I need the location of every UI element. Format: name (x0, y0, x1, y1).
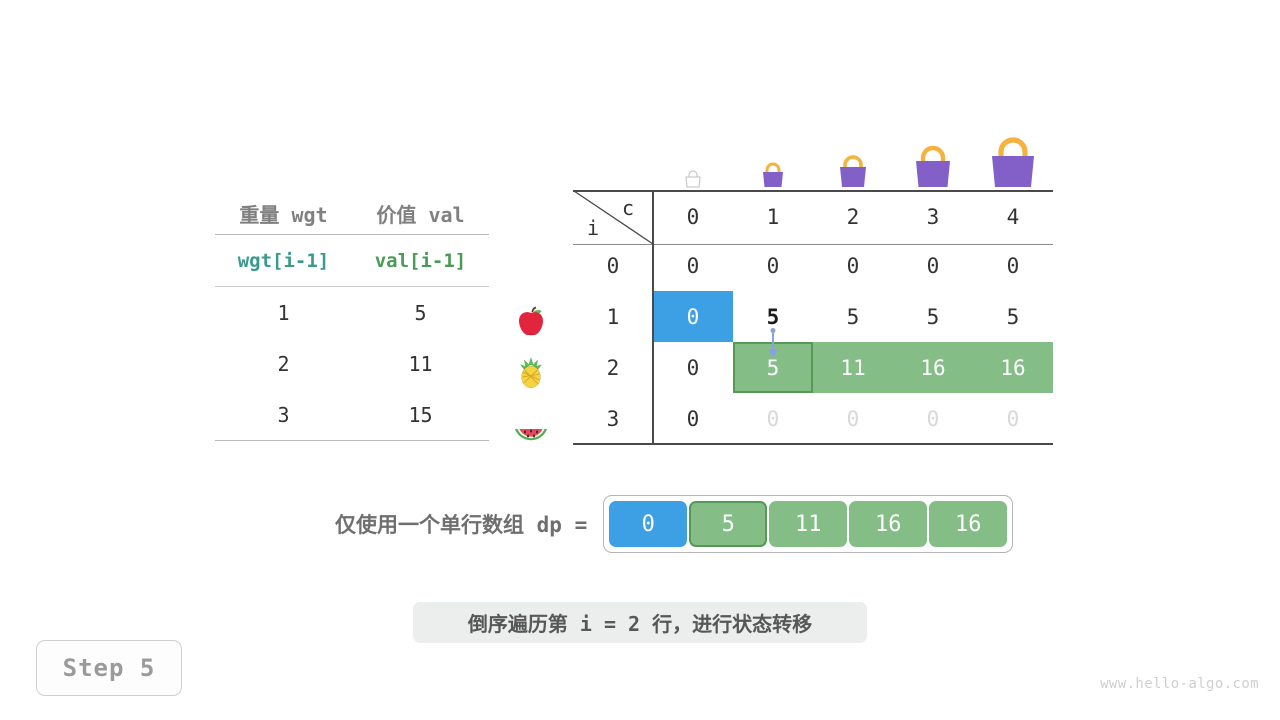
dp-array-cell-4[interactable]: 16 (929, 501, 1007, 547)
wv-divider-bottom (215, 440, 489, 441)
handbag-icon (813, 118, 893, 188)
table-row: 3 15 (215, 389, 489, 440)
dp-cell-1-0: 0 (653, 291, 733, 342)
bag-capacity-icons (653, 118, 1053, 188)
dp-cell-3-1: 0 (733, 393, 813, 444)
dp-array-box: 0 5 11 16 16 (603, 495, 1013, 553)
watermark: www.hello-algo.com (1100, 676, 1259, 692)
wv-subheader-value: val[i-1] (352, 250, 489, 272)
caption-text: 倒序遍历第 i = 2 行，进行状态转移 (413, 602, 867, 643)
wv-weight-3: 3 (215, 403, 352, 427)
handbag-icon (893, 118, 973, 188)
dp-col-header-2: 2 (813, 190, 893, 244)
wv-weight-2: 2 (215, 352, 352, 376)
dp-row-header-1: 1 (573, 291, 653, 342)
dp-cell-0-0: 0 (653, 240, 733, 291)
table-row: 1 5 (215, 287, 489, 338)
dp-cell-3-4: 0 (973, 393, 1053, 444)
dp-cell-0-3: 0 (893, 240, 973, 291)
dp-cell-2-2: 11 (813, 342, 893, 393)
dp-cell-0-1: 0 (733, 240, 813, 291)
dp-cell-3-2: 0 (813, 393, 893, 444)
wv-subheader-weight: wgt[i-1] (215, 250, 352, 272)
dp-array-cell-0[interactable]: 0 (609, 501, 687, 547)
wv-subheader-row: wgt[i-1] val[i-1] (215, 235, 489, 286)
dp-cell-2-4: 16 (973, 342, 1053, 393)
wv-header-weight: 重量 wgt (215, 199, 352, 228)
dp-array-cell-3[interactable]: 16 (849, 501, 927, 547)
wv-value-1: 5 (352, 301, 489, 325)
dp-cell-3-3: 0 (893, 393, 973, 444)
dp-row-header-3: 3 (573, 393, 653, 444)
down-arrow-icon (765, 328, 781, 360)
dp-array-cell-1[interactable]: 5 (689, 501, 767, 547)
dp-col-header-1: 1 (733, 190, 813, 244)
dp-col-header-3: 3 (893, 190, 973, 244)
weight-value-table: 重量 wgt 价值 val wgt[i-1] val[i-1] 1 5 2 11… (215, 192, 489, 441)
dp-array-section: 仅使用一个单行数组 dp = 0 5 11 16 16 (335, 495, 1013, 553)
dp-corner-diagonal (573, 190, 654, 245)
dp-cell-2-3: 16 (893, 342, 973, 393)
apple-icon (508, 295, 554, 346)
handbag-icon (733, 118, 813, 188)
dp-row-header-2: 2 (573, 342, 653, 393)
wv-header-value: 价值 val (352, 199, 489, 228)
handbag-icon (653, 118, 733, 188)
watermelon-icon (508, 397, 554, 448)
dp-cell-1-3: 5 (893, 291, 973, 342)
wv-value-3: 15 (352, 403, 489, 427)
dp-col-header-0: 0 (653, 190, 733, 244)
table-row: 2 11 (215, 338, 489, 389)
wv-weight-1: 1 (215, 301, 352, 325)
step-badge: Step 5 (36, 640, 182, 696)
dp-array-cell-2[interactable]: 11 (769, 501, 847, 547)
dp-row-header-0: 0 (573, 240, 653, 291)
wv-header-row: 重量 wgt 价值 val (215, 192, 489, 234)
dp-cell-2-0: 0 (653, 342, 733, 393)
dp-axis-label-c: c (622, 196, 634, 220)
wv-value-2: 11 (352, 352, 489, 376)
dp-axis-label-i: i (587, 216, 599, 240)
dp-col-header-4: 4 (973, 190, 1053, 244)
dp-cell-1-4: 5 (973, 291, 1053, 342)
dp-table: i c 0 1 2 3 4 0 1 2 3 0 0 0 0 0 0 5 5 5 … (573, 190, 1053, 444)
pineapple-icon (508, 346, 554, 397)
dp-cell-1-2: 5 (813, 291, 893, 342)
dp-cell-3-0: 0 (653, 393, 733, 444)
handbag-icon (973, 118, 1053, 188)
dp-array-label: 仅使用一个单行数组 dp = (335, 509, 587, 539)
dp-cell-0-4: 0 (973, 240, 1053, 291)
fruit-icon-column (508, 295, 554, 448)
dp-cell-0-2: 0 (813, 240, 893, 291)
